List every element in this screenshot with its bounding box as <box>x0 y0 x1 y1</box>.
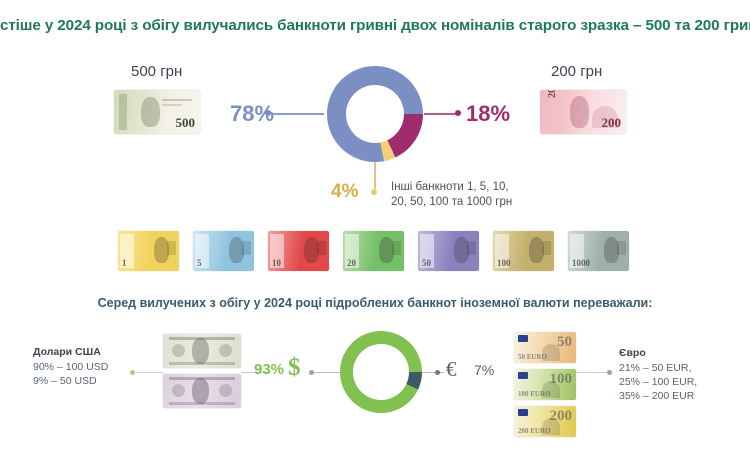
usd-breakdown: Долари США 90% – 100 USD 9% – 50 USD <box>33 345 108 388</box>
eur-breakdown: Євро 21% – 50 EUR, 25% – 100 EUR, 35% – … <box>619 346 697 403</box>
leader-dot-18 <box>455 110 461 116</box>
banknote-seal <box>467 241 476 255</box>
label-500-hryvnia: 500 грн <box>131 63 182 80</box>
banknote-portrait <box>192 378 209 404</box>
banknote-denomination: 200 <box>550 408 573 425</box>
banknote-denomination: 1000 <box>572 258 590 268</box>
banknote-100-eur: 100100 EURO <box>514 369 576 400</box>
banknote-5-hryvnia: 5 <box>193 231 254 271</box>
section-subtitle: Серед вилучених з обігу у 2024 році підр… <box>0 296 750 310</box>
percent-label-200: 18% <box>466 101 510 127</box>
leader-dot-eur-outer <box>607 370 612 375</box>
eu-flag-icon <box>518 409 528 416</box>
banknote-denomination-small: 50 EURO <box>518 353 547 361</box>
banknote-denomination: 1 <box>122 258 127 268</box>
leader-line-usd <box>312 372 340 373</box>
leader-line-eur <box>422 372 444 373</box>
other-banknotes-caption: Інші банкноти 1, 5, 10, 20, 50, 100 та 1… <box>391 180 512 210</box>
banknote-strip <box>119 94 127 130</box>
banknote-seal <box>242 241 251 255</box>
banknote-50-eur: 5050 EURO <box>514 332 576 363</box>
percent-label-other: 4% <box>331 181 358 203</box>
percent-label-eur: 7% <box>474 362 494 378</box>
banknote-seal <box>317 241 326 255</box>
banknote-denomination: 100 <box>497 258 511 268</box>
usd-title: Долари США <box>33 345 108 359</box>
eur-line-1: 21% – 50 EUR, <box>619 362 691 374</box>
banknote-portrait <box>141 97 160 127</box>
banknote-denomination: 20 <box>347 258 356 268</box>
leader-line-78 <box>272 113 324 115</box>
banknote-denomination-small: 200 EURO <box>518 427 550 435</box>
label-200-hryvnia: 200 грн <box>551 63 602 80</box>
euro-sign-icon: € <box>446 357 457 382</box>
leader-dot-4 <box>371 189 377 195</box>
banknote-line <box>162 99 192 101</box>
banknote-denomination: 200 <box>602 116 622 129</box>
banknote-100-usd <box>163 334 241 368</box>
banknote-seal <box>167 241 176 255</box>
banknote-500-hryvnia: 500 <box>114 90 200 134</box>
banknote-line <box>162 104 182 106</box>
foreign-currency-section: Серед вилучених з обігу у 2024 році підр… <box>0 288 750 450</box>
eu-flag-icon <box>518 335 528 342</box>
banknote-corner-denomination: 200 <box>547 90 558 98</box>
leader-line-18 <box>424 113 458 115</box>
usd-line-2: 9% – 50 USD <box>33 375 97 387</box>
banknote-10-hryvnia: 10 <box>268 231 329 271</box>
banknote-seal <box>172 344 185 357</box>
banknote-denomination: 50 <box>422 258 431 268</box>
leader-dot-usd <box>309 370 314 375</box>
banknote-denomination: 50 <box>557 334 572 351</box>
percent-label-500: 78% <box>230 101 274 127</box>
banknote-50-hryvnia: 50 <box>418 231 479 271</box>
dollar-sign-icon: $ <box>288 354 301 382</box>
banknote-seal <box>172 384 185 397</box>
hryvnia-section: 500 грн 200 грн 500 200 200 78% 18% 4% І… <box>0 0 750 285</box>
eu-flag-icon <box>518 372 528 379</box>
eur-line-3: 35% – 200 EUR <box>619 390 694 402</box>
donut-chart-hryvnia <box>327 66 423 162</box>
banknote-seal <box>219 384 232 397</box>
banknote-denomination: 10 <box>272 258 281 268</box>
banknote-100-hryvnia: 100 <box>493 231 554 271</box>
banknote-seal <box>542 241 551 255</box>
leader-line-4 <box>374 162 376 189</box>
percent-label-usd: 93% <box>254 361 284 378</box>
banknote-seal <box>219 344 232 357</box>
leader-line-usd-outer <box>136 372 164 373</box>
banknote-denomination: 500 <box>176 116 196 129</box>
banknote-portrait <box>192 338 209 364</box>
banknote-seal <box>617 241 626 255</box>
banknote-seal <box>392 241 401 255</box>
banknote-portrait <box>570 96 589 128</box>
leader-dot-usd-outer <box>130 370 135 375</box>
banknote-denomination: 5 <box>197 258 202 268</box>
banknote-denomination: 100 <box>550 371 573 388</box>
banknote-200-eur: 200200 EURO <box>514 406 576 437</box>
eur-line-2: 25% – 100 EUR, <box>619 376 697 388</box>
leader-dot-eur <box>435 370 440 375</box>
banknote-20-hryvnia: 20 <box>343 231 404 271</box>
banknote-denomination-small: 100 EURO <box>518 390 550 398</box>
donut-chart-foreign-currency <box>340 331 422 413</box>
banknote-strip-row: 151020501001000 <box>118 231 632 274</box>
banknote-1-hryvnia: 1 <box>118 231 179 271</box>
banknote-200-hryvnia: 200 200 <box>540 90 626 134</box>
banknote-1000-hryvnia: 1000 <box>568 231 629 271</box>
eur-title: Євро <box>619 346 697 360</box>
banknote-50-usd <box>163 374 241 408</box>
usd-line-1: 90% – 100 USD <box>33 361 108 373</box>
